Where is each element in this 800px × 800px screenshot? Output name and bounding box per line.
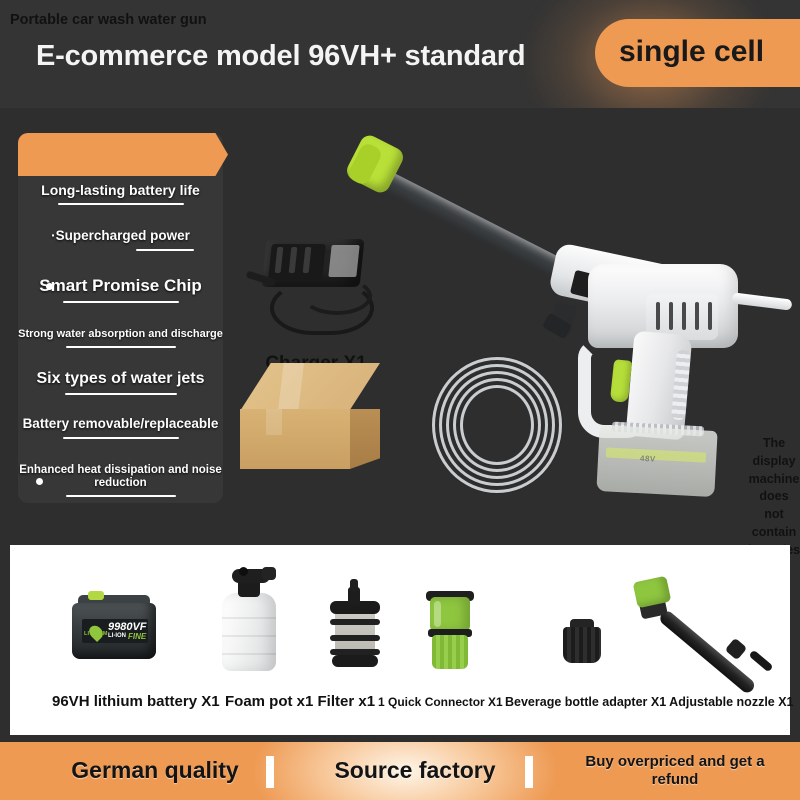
feature-panel-tab [18, 133, 228, 176]
feature-item: Enhanced heat dissipation and noise redu… [18, 464, 223, 497]
feature-item: Long-lasting battery life [18, 182, 223, 205]
bullet-dot [36, 478, 43, 485]
feature-list: Long-lasting battery life ·Supercharged … [18, 176, 223, 503]
footer-divider [266, 756, 274, 788]
battery-liion-text: LI-ION [108, 633, 126, 639]
feature-underline [63, 301, 179, 303]
feature-item-label: Battery removable/replaceable [18, 416, 223, 432]
feature-underline [65, 393, 177, 395]
feature-item: Six types of water jets [18, 370, 223, 395]
wand-tube [365, 163, 580, 287]
feature-item: Battery removable/replaceable [18, 416, 223, 439]
footer-item-german-quality: German quality [40, 742, 270, 800]
accessories-row: 9980VF LITHIUM LI-ION FINE [10, 545, 790, 685]
accessory-caption: Beverage bottle adapter X1 Adjustable no… [505, 695, 794, 709]
battery-fine-text: FINE [128, 632, 146, 641]
product-marketing-image: E-commerce model 96VH+ standard single c… [0, 0, 800, 800]
accessory-caption: 1 Quick Connector X1 [378, 695, 503, 709]
feature-item: ·Supercharged power [18, 228, 223, 251]
battery-lithium-text: LITHIUM [84, 631, 108, 637]
feature-underline [58, 203, 184, 205]
feature-item-label: Strong water absorption and discharge [18, 328, 223, 341]
feature-panel-tab-label: Portable car wash water gun [10, 12, 207, 28]
page-title: E-commerce model 96VH+ standard [36, 40, 596, 73]
feature-underline [66, 346, 176, 348]
feature-item: Smart Promise Chip [18, 276, 223, 303]
water-gun-image: 48V [330, 128, 770, 528]
footer-divider [525, 756, 533, 788]
feature-item-label: Long-lasting battery life [18, 182, 223, 198]
feature-item-label: Enhanced heat dissipation and noise redu… [18, 464, 223, 490]
feature-underline [136, 249, 194, 251]
accessory-caption: Foam pot x1 Filter x1 [225, 693, 375, 710]
feature-item-label: Six types of water jets [18, 370, 223, 388]
footer-bar: German quality Source factory Buy overpr… [0, 742, 800, 800]
footer-item-refund: Buy overpriced and get a refund [560, 742, 790, 800]
accessory-caption: 96VH lithium battery X1 [52, 693, 220, 710]
feature-item-label: ·Supercharged power [18, 228, 223, 244]
footer-item-source-factory: Source factory [300, 742, 530, 800]
bullet-dot [46, 283, 53, 290]
gun-disclaimer-note: The display machine does not contain bat… [748, 435, 800, 559]
feature-underline [63, 437, 179, 439]
feature-item: Strong water absorption and discharge [18, 328, 223, 348]
variant-badge-label: single cell [619, 35, 764, 69]
feature-underline [66, 495, 176, 497]
variant-badge: single cell [595, 19, 800, 87]
accessories-panel: 9980VF LITHIUM LI-ION FINE [10, 545, 790, 735]
